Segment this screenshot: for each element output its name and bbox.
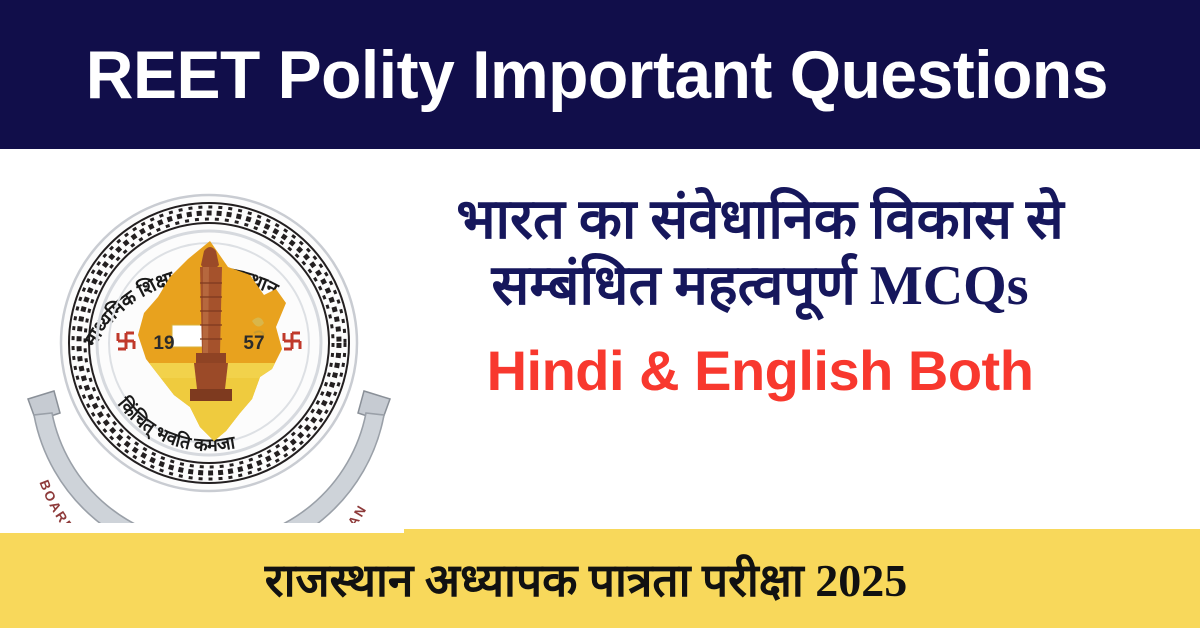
body-area: BOARD OF SECONDARY EDUCATION RAJASTHAN म… bbox=[0, 149, 1200, 533]
header-title: REET Polity Important Questions bbox=[86, 41, 1108, 109]
header-bar: REET Polity Important Questions bbox=[0, 0, 1200, 149]
hindi-title: भारत का संवेधानिक विकास से सम्बंधित महत्… bbox=[330, 187, 1190, 319]
footer-exam-name: राजस्थान अध्यापक पात्रता परीक्षा 2025 bbox=[265, 558, 907, 604]
headline-block: भारत का संवेधानिक विकास से सम्बंधित महत्… bbox=[330, 187, 1190, 399]
seal-year-right: 57 bbox=[243, 333, 264, 354]
footer-bar: राजस्थान अध्यापक पात्रता परीक्षा 2025 bbox=[0, 533, 1200, 628]
subtitle-language-note: Hindi & English Both bbox=[330, 343, 1190, 399]
poster-root: REET Polity Important Questions bbox=[0, 0, 1200, 628]
hindi-title-line-1: भारत का संवेधानिक विकास से bbox=[456, 189, 1064, 251]
hindi-title-line-2: सम्बंधित महत्वपूर्ण MCQs bbox=[330, 253, 1190, 319]
seal-year-left: 19 bbox=[153, 333, 174, 354]
